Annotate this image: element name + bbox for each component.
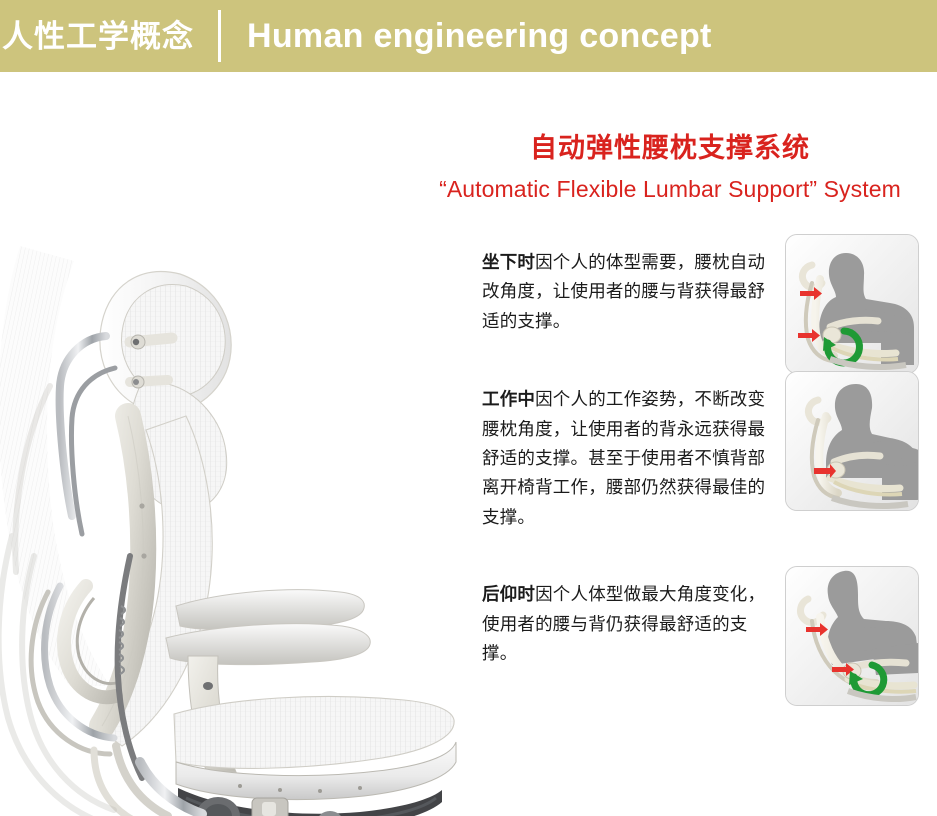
feature-description: 后仰时因个人体型做最大角度变化，使用者的腰与背仍获得最舒适的支撑。 (482, 580, 772, 668)
reclining-posture-thumbnail (785, 566, 919, 706)
feature-list: 坐下时因个人的体型需要，腰枕自动改角度，让使用者的腰与背获得最舒适的支撑。 (482, 248, 924, 668)
section-title-english: “Automatic Flexible Lumbar Support” Syst… (420, 175, 920, 205)
feature-body-text: 因个人的工作姿势，不断改变腰枕角度，让使用者的背永远获得最舒适的支撑。甚至于使用… (482, 389, 765, 527)
section-headings: 自动弹性腰枕支撑系统 “Automatic Flexible Lumbar Su… (420, 132, 920, 205)
feature-item: 后仰时因个人体型做最大角度变化，使用者的腰与背仍获得最舒适的支撑。 (482, 580, 924, 668)
sitting-down-posture-thumbnail (785, 234, 919, 374)
feature-lead-label: 坐下时 (482, 252, 535, 272)
feature-lead-label: 后仰时 (482, 584, 535, 604)
feature-description: 工作中因个人的工作姿势，不断改变腰枕角度，让使用者的背永远获得最舒适的支撑。甚至… (482, 385, 772, 532)
page-header-banner: 人性工学概念 Human engineering concept (0, 0, 937, 72)
working-posture-thumbnail (785, 371, 919, 511)
feature-lead-label: 工作中 (482, 389, 535, 409)
page-root: 人性工学概念 Human engineering concept (0, 0, 937, 816)
banner-title-chinese: 人性工学概念 (2, 21, 194, 52)
chair-posture-reclining-icon (786, 567, 918, 705)
feature-description: 坐下时因个人的体型需要，腰枕自动改角度，让使用者的腰与背获得最舒适的支撑。 (482, 248, 772, 336)
chair-illustration-icon (0, 86, 460, 816)
chair-posture-working-icon (786, 372, 918, 510)
vertical-divider-icon (218, 10, 221, 62)
chair-posture-sitting-icon (786, 235, 918, 373)
feature-item: 坐下时因个人的体型需要，腰枕自动改角度，让使用者的腰与背获得最舒适的支撑。 (482, 248, 924, 336)
section-title-chinese: 自动弹性腰枕支撑系统 (420, 132, 920, 166)
banner-title-english: Human engineering concept (247, 19, 712, 53)
feature-item: 工作中因个人的工作姿势，不断改变腰枕角度，让使用者的背永远获得最舒适的支撑。甚至… (482, 385, 924, 532)
main-chair-photo (0, 86, 460, 816)
